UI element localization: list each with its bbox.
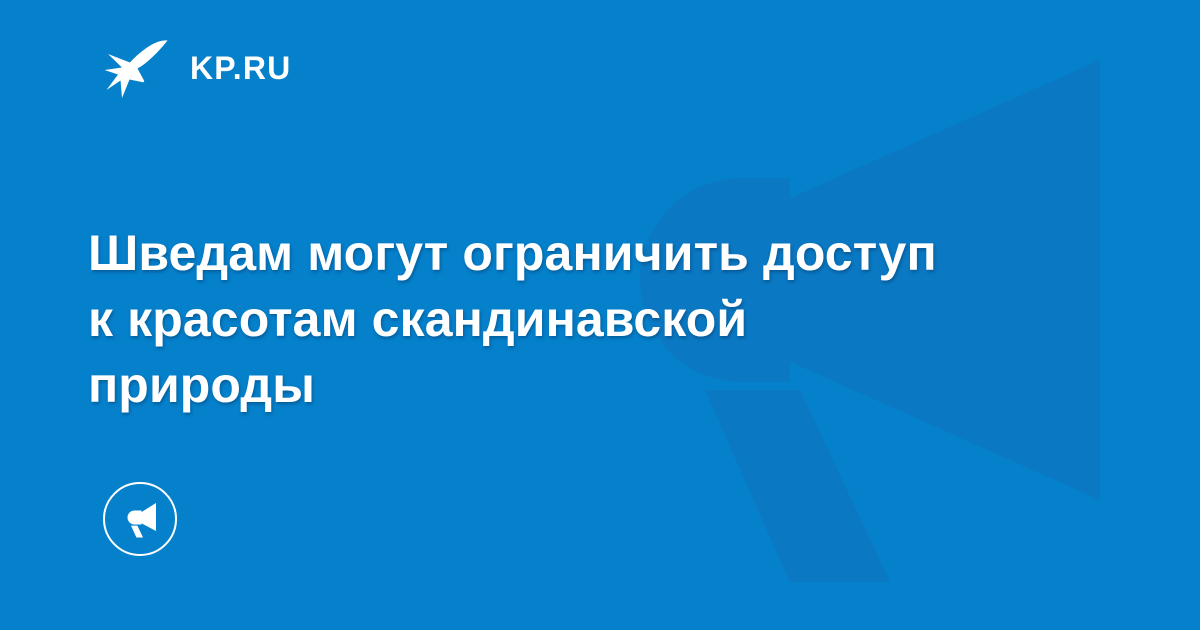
megaphone-badge[interactable] (103, 482, 177, 556)
headline-line-2: к красотам скандинавской (88, 286, 1098, 352)
headline-line-3: природы (88, 352, 1098, 418)
headline-line-1: Шведам могут ограничить доступ (88, 220, 1098, 286)
megaphone-icon (120, 499, 160, 539)
brand-logo[interactable]: KP.RU (104, 36, 291, 100)
swallow-bird-logo-icon (104, 36, 172, 100)
page-title: Шведам могут ограничить доступ к красота… (88, 220, 1098, 418)
brand-name: KP.RU (190, 52, 291, 84)
social-share-card: KP.RU Шведам могут ограничить доступ к к… (0, 0, 1200, 630)
